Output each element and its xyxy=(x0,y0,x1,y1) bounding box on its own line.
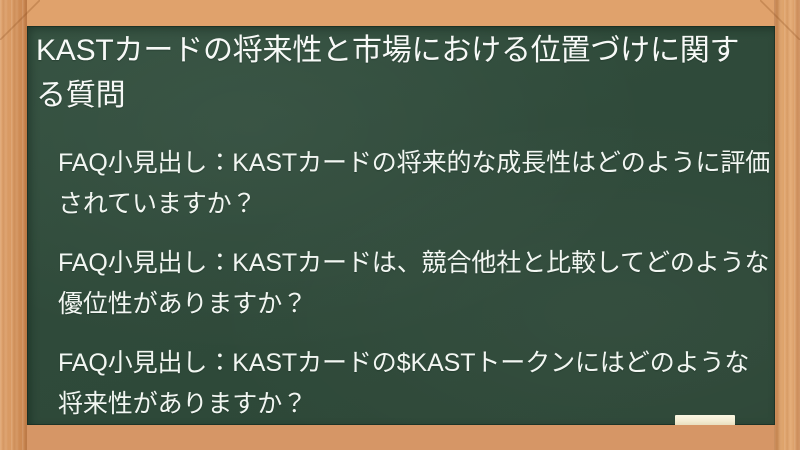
wooden-frame-top xyxy=(0,0,800,26)
faq-item: FAQ小見出し：KASTカードは、競合他社と比較してどのような優位性がありますか… xyxy=(58,243,772,325)
chalkboard-content: KASTカードの将来性と市場における位置づけに関する質問 FAQ小見出し：KAS… xyxy=(27,26,775,425)
slide-title: KASTカードの将来性と市場における位置づけに関する質問 xyxy=(36,28,756,118)
chalkboard-slide: KASTカードの将来性と市場における位置づけに関する質問 FAQ小見出し：KAS… xyxy=(0,0,800,450)
wooden-frame-right xyxy=(774,0,800,450)
chalkboard-surface: KASTカードの将来性と市場における位置づけに関する質問 FAQ小見出し：KAS… xyxy=(27,26,775,425)
chalk-stick xyxy=(675,415,735,425)
faq-item: FAQ小見出し：KASTカードの将来的な成長性はどのように評価されていますか？ xyxy=(58,143,772,225)
faq-item: FAQ小見出し：KASTカードの$KASTトークンにはどのような将来性があります… xyxy=(58,343,772,425)
wooden-frame-left xyxy=(0,0,27,450)
faq-list: FAQ小見出し：KASTカードの将来的な成長性はどのように評価されていますか？ … xyxy=(58,143,772,425)
wooden-frame-bottom-ledge xyxy=(0,422,800,450)
